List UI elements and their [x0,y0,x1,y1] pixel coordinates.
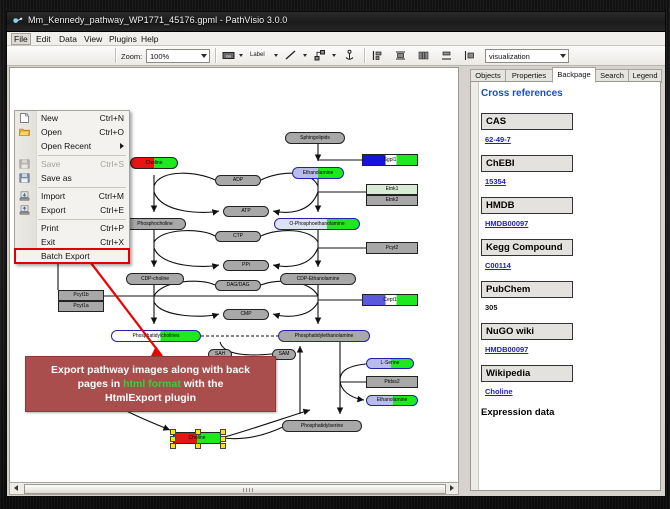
file-menu-batch-export[interactable]: Batch Export [15,249,129,263]
file-menu-import-accel: Ctrl+M [99,189,124,203]
side-panel-tabstrip: Objects Properties Backpage Search Legen… [462,67,663,81]
callout-line-2: pages in html format with the [78,377,224,391]
file-menu-open-recent-label: Open Recent [41,139,91,153]
xref-value-chebi[interactable]: 15354 [485,177,656,186]
file-menu-export-label: Export [41,203,66,217]
align-top-icon[interactable] [394,49,407,62]
file-menu-print[interactable]: Print Ctrl+P [15,221,129,235]
window-title: Mm_Kennedy_pathway_WP1771_45176.gpml - P… [28,15,287,25]
save-icon [19,159,30,169]
xref-source-wikipedia: Wikipedia [481,365,573,382]
scroll-right-arrow[interactable] [446,484,457,492]
xref-value-hmdb[interactable]: HMDB00097 [485,219,656,228]
menu-plugins[interactable]: Plugins [106,33,140,45]
group-icon[interactable] [463,49,476,62]
new-file-icon [19,113,30,123]
xref-source-nugo: NuGO wiki [481,323,573,340]
zoom-label: Zoom: [121,52,142,61]
save-as-icon [19,173,30,183]
xref-source-kegg: Kegg Compound [481,239,573,256]
file-menu-open-label: Open [41,125,62,139]
chevron-down-icon-2 [560,54,566,58]
toolbar-separator-2 [215,48,217,63]
file-menu-save-label: Save [41,157,60,171]
selection-handle-w[interactable] [170,436,176,442]
toolbar: Zoom: 100% Gn Label [7,46,665,66]
file-menu-save: Save Ctrl+S [15,157,129,171]
callout-highlight: html format [123,378,181,390]
file-menu-export[interactable]: Export Ctrl+E [15,203,129,217]
hscroll-grip [243,488,253,492]
export-icon [19,205,30,215]
menubar: File Edit Data View Plugins Help [7,32,665,46]
file-menu-save-as[interactable]: Save as [15,171,129,185]
hscroll-thumb[interactable] [24,484,446,494]
line-dropdown-icon[interactable] [303,54,307,57]
visualization-combobox[interactable]: visualization [485,49,569,63]
selection-handle-e[interactable] [220,436,226,442]
zoom-combobox[interactable]: 100% [146,49,210,63]
chevron-down-icon [201,54,207,58]
selection-handle-ne[interactable] [220,429,226,435]
xref-value-wikipedia[interactable]: Choline [485,387,656,396]
expression-data-heading: Expression data [481,407,656,418]
canvas-hscrollbar[interactable] [9,482,459,495]
xref-value-kegg[interactable]: C00114 [485,261,656,270]
interaction-icon[interactable] [313,49,326,62]
label-dropdown-icon[interactable] [274,54,278,57]
callout-line-1: Export pathway images along with back [51,363,250,377]
file-menu-open-recent[interactable]: Open Recent [15,139,129,153]
import-icon [19,191,30,201]
xref-value-pubchem: 305 [485,303,656,312]
cross-references-title: Cross references [481,88,656,99]
submenu-arrow-icon [120,143,124,149]
tab-backpage[interactable]: Backpage [552,67,596,83]
file-menu-open-accel: Ctrl+O [99,125,124,139]
menu-help[interactable]: Help [138,33,161,45]
menu-edit[interactable]: Edit [33,33,54,45]
stack-icon[interactable] [440,49,453,62]
file-menu-import-label: Import [41,189,65,203]
selection-handle-n[interactable] [195,429,201,435]
file-menu-export-accel: Ctrl+E [100,203,124,217]
distribute-icon[interactable] [417,49,430,62]
file-menu-exit[interactable]: Exit Ctrl+X [15,235,129,249]
annotation-callout: Export pathway images along with back pa… [25,356,276,412]
menu-file[interactable]: File [11,33,31,45]
svg-text:Gn: Gn [226,53,231,58]
menu-view[interactable]: View [81,33,105,45]
zoom-value: 100% [150,52,169,61]
xref-source-chebi: ChEBI [481,155,573,172]
file-menu-import[interactable]: Import Ctrl+M [15,189,129,203]
file-menu-batch-export-label: Batch Export [41,249,90,263]
file-menu-exit-accel: Ctrl+X [100,235,124,249]
scroll-left-arrow[interactable] [11,484,22,492]
selection-handle-nw[interactable] [170,429,176,435]
callout-line-3: HtmlExport plugin [105,391,196,405]
callout-line-2c: with the [181,378,224,390]
file-menu-new-label: New [41,111,58,125]
xref-source-hmdb: HMDB [481,197,573,214]
open-folder-icon [19,127,30,137]
desktop-background: Mm_Kennedy_pathway_WP1771_45176.gpml - P… [0,0,670,509]
label-button-text[interactable]: Label [250,52,265,58]
file-menu-new-accel: Ctrl+N [100,111,124,125]
toolbar-separator [115,48,117,63]
file-menu-new[interactable]: New Ctrl+N [15,111,129,125]
xref-value-cas[interactable]: 62-49-7 [485,135,656,144]
menu-data[interactable]: Data [56,33,80,45]
side-panel: Objects Properties Backpage Search Legen… [462,67,663,493]
backpage-panel[interactable]: Cross references CAS 62-49-7 ChEBI 15354… [470,81,661,491]
pathvisio-icon [12,16,23,27]
file-menu-exit-label: Exit [41,235,55,249]
pathvisio-window: Mm_Kennedy_pathway_WP1771_45176.gpml - P… [6,11,666,497]
file-menu-open[interactable]: Open Ctrl+O [15,125,129,139]
datanode-icon[interactable]: Gn [222,49,235,62]
file-menu-save-as-label: Save as [41,171,72,185]
selection-handle-s[interactable] [195,443,201,449]
xref-source-cas: CAS [481,113,573,130]
window-body: Choline Sphingolipids Ethanolamine ADP A… [7,66,665,497]
file-menu-popup[interactable]: New Ctrl+N Open Ctrl+O Open Recent [14,110,130,264]
visualization-value: visualization [489,52,530,61]
selection-handle-sw[interactable] [170,443,176,449]
line-icon[interactable] [284,49,297,62]
interaction-dropdown-icon[interactable] [332,54,336,57]
file-menu-save-accel: Ctrl+S [100,157,124,171]
toolbar-separator-3 [364,48,366,63]
file-menu-print-accel: Ctrl+P [100,221,124,235]
window-titlebar: Mm_Kennedy_pathway_WP1771_45176.gpml - P… [7,12,665,32]
selection-handle-se[interactable] [220,443,226,449]
anchor-icon[interactable] [343,49,356,62]
xref-source-pubchem: PubChem [481,281,573,298]
callout-line-2a: pages in [78,378,124,390]
datanode-dropdown-icon[interactable] [239,54,243,57]
backpage-scrollbar[interactable] [471,82,479,490]
align-left-icon[interactable] [371,49,384,62]
xref-value-nugo[interactable]: HMDB00097 [485,345,656,354]
file-menu-print-label: Print [41,221,58,235]
